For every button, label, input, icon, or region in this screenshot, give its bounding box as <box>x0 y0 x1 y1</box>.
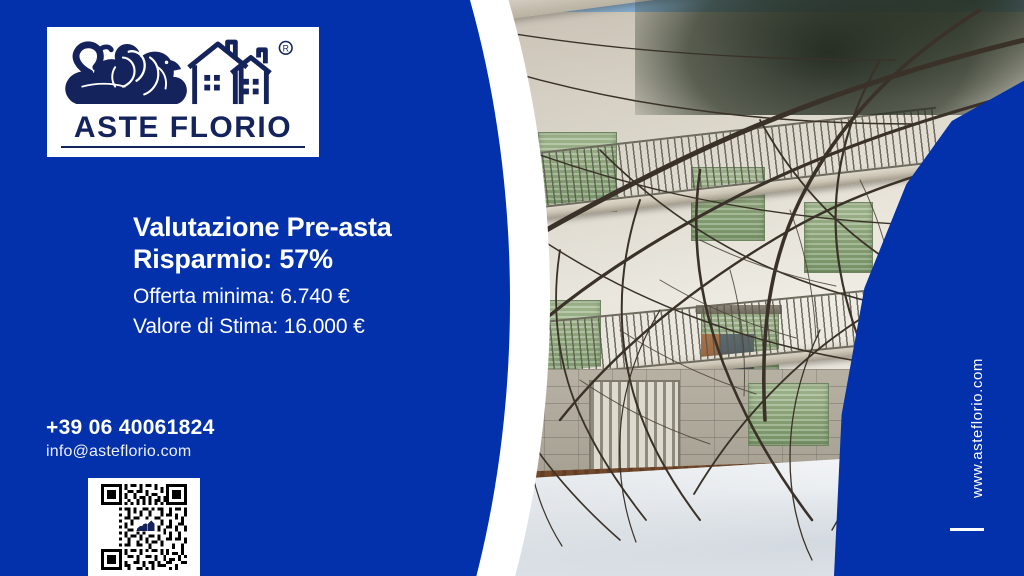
estimated-value-line: Valore di Stima: 16.000 € <box>133 313 463 341</box>
brand-name: ASTE FLORIO <box>57 113 309 143</box>
logo-underline <box>61 146 305 148</box>
phone-number[interactable]: +39 06 40061824 <box>46 415 215 440</box>
headline-line-1: Valutazione Pre-asta <box>133 212 463 244</box>
contact-block: +39 06 40061824 info@asteflorio.com <box>46 415 215 464</box>
brand-logo-card[interactable]: R ASTE FLORIO <box>47 27 319 157</box>
headline-line-2: Risparmio: 57% <box>133 244 463 276</box>
minimum-offer-line: Offerta minima: 6.740 € <box>133 283 463 311</box>
website-underline <box>950 528 984 531</box>
logo-artwork: R <box>57 33 309 115</box>
svg-text:R: R <box>283 44 289 54</box>
qr-code[interactable] <box>88 478 200 576</box>
poster-canvas: R ASTE FLORIO Valutazione Pre-asta Rispa… <box>0 0 1024 576</box>
website-url-vertical[interactable]: www.asteflorio.com <box>969 358 986 498</box>
offer-headline-block: Valutazione Pre-asta Risparmio: 57% Offe… <box>133 212 463 341</box>
email-address[interactable]: info@asteflorio.com <box>46 440 215 464</box>
